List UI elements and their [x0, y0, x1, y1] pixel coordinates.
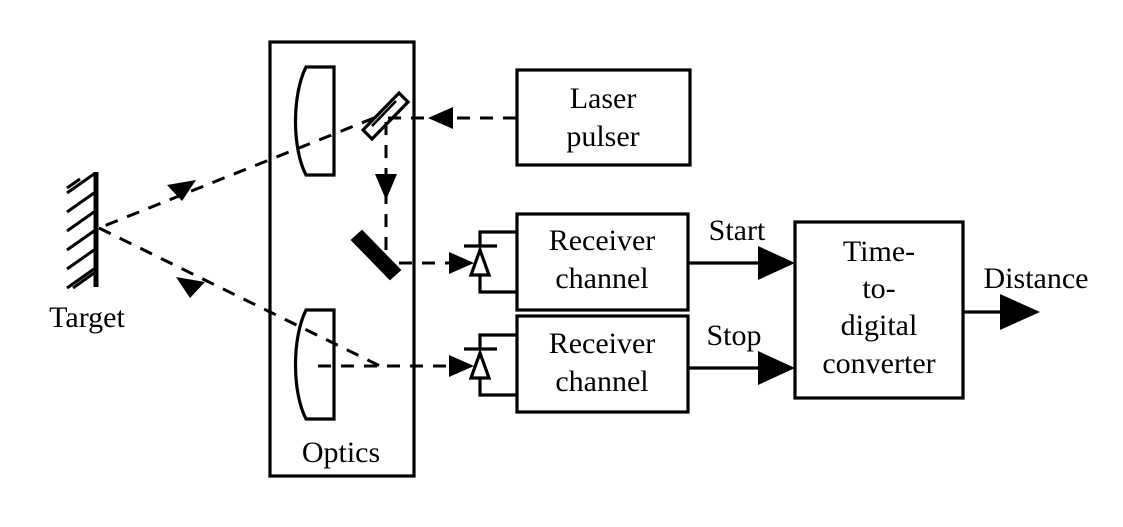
start-signal-label: Start [709, 214, 766, 247]
photodiode-stop-top-wire [480, 335, 517, 349]
photodiode-stop [464, 335, 517, 395]
receiver-channel-bottom-label-line2: channel [555, 365, 648, 398]
reference-beam-arrowhead [375, 174, 397, 200]
stop-optical-beam-arrowhead [449, 355, 474, 377]
diagram-canvas: Target Optics [0, 0, 1123, 527]
laser-beam-arrowhead [428, 107, 453, 129]
receiver-channel-top-label-line2: channel [555, 262, 648, 295]
distance-output-label: Distance [984, 262, 1089, 295]
laser-pulser-label-line2: pulser [566, 120, 639, 153]
optics-label: Optics [302, 436, 380, 469]
tdc-label-line2: to- [862, 272, 895, 305]
photodiode-start-bottom-wire [480, 275, 517, 292]
folding-mirror [352, 231, 400, 279]
return-beam-arrowhead [176, 277, 205, 298]
target-label: Target [49, 301, 125, 334]
tdc-label-line1: Time- [843, 235, 915, 268]
start-signal-arrowhead [758, 246, 795, 280]
stop-signal-label: Stop [706, 319, 761, 352]
receiver-channel-top-label-line1: Receiver [549, 224, 656, 257]
start-optical-beam-arrowhead [449, 252, 474, 274]
target-surface [67, 172, 96, 288]
stop-signal-arrowhead [758, 351, 795, 385]
receiver-channel-bottom-label-line1: Receiver [549, 327, 656, 360]
photodiode-start [464, 232, 517, 292]
return-beam-path [99, 228, 380, 366]
laser-pulser-label-line1: Laser [570, 82, 637, 115]
tdc-label-line3: digital [841, 309, 918, 342]
collimating-lens [296, 67, 335, 175]
photodiode-stop-bottom-wire [480, 378, 517, 395]
photodiode-start-top-wire [480, 232, 517, 246]
tdc-label-line4: converter [822, 347, 935, 380]
distance-output-arrowhead [1000, 294, 1040, 330]
target-hatching [67, 174, 94, 288]
rangefinder-diagram: Target Optics [0, 0, 1123, 527]
